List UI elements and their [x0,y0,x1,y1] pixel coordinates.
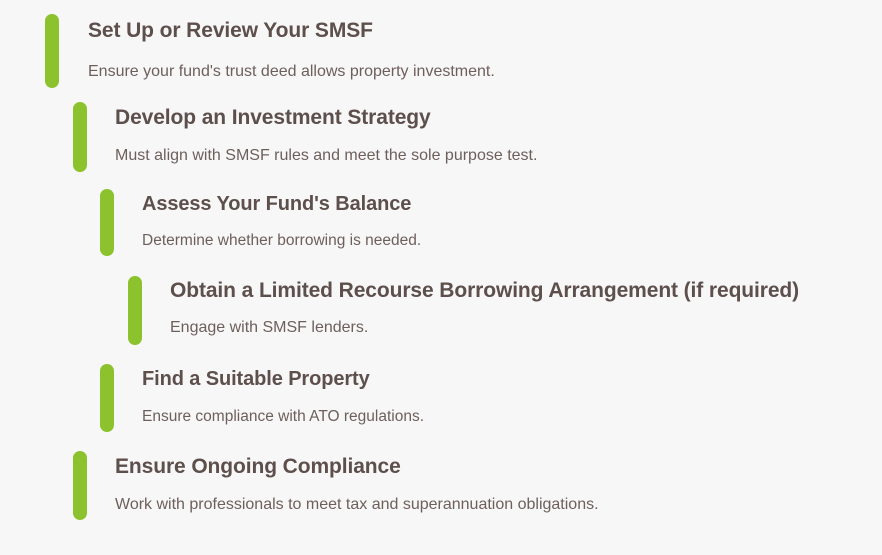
step-accent-bar [128,276,142,345]
step-text-block: Find a Suitable Property Ensure complian… [142,364,424,427]
step-title: Assess Your Fund's Balance [142,192,421,217]
step-title: Find a Suitable Property [142,367,424,392]
step-text-block: Ensure Ongoing Compliance Work with prof… [115,451,599,516]
step-item[interactable]: Set Up or Review Your SMSF Ensure your f… [45,14,495,88]
step-item[interactable]: Find a Suitable Property Ensure complian… [100,364,424,432]
step-title: Set Up or Review Your SMSF [88,18,495,44]
step-accent-bar [100,189,114,256]
step-description: Engage with SMSF lenders. [170,317,799,339]
step-description: Work with professionals to meet tax and … [115,494,599,516]
step-title: Develop an Investment Strategy [115,105,537,131]
step-description: Ensure compliance with ATO regulations. [142,406,424,427]
step-text-block: Set Up or Review Your SMSF Ensure your f… [88,14,495,83]
step-text-block: Assess Your Fund's Balance Determine whe… [142,189,421,251]
step-item[interactable]: Ensure Ongoing Compliance Work with prof… [73,451,599,520]
step-text-block: Obtain a Limited Recourse Borrowing Arra… [170,276,799,339]
step-description: Determine whether borrowing is needed. [142,230,421,251]
step-accent-bar [73,451,87,520]
step-accent-bar [45,14,59,88]
step-item[interactable]: Obtain a Limited Recourse Borrowing Arra… [128,276,799,345]
step-title: Obtain a Limited Recourse Borrowing Arra… [170,278,799,304]
step-description: Ensure your fund's trust deed allows pro… [88,61,495,83]
step-text-block: Develop an Investment Strategy Must alig… [115,102,537,167]
step-title: Ensure Ongoing Compliance [115,454,599,480]
step-item[interactable]: Develop an Investment Strategy Must alig… [73,102,537,172]
steps-list: Set Up or Review Your SMSF Ensure your f… [0,0,882,555]
step-accent-bar [73,102,87,172]
step-item[interactable]: Assess Your Fund's Balance Determine whe… [100,189,421,256]
step-accent-bar [100,364,114,432]
step-description: Must align with SMSF rules and meet the … [115,145,537,167]
